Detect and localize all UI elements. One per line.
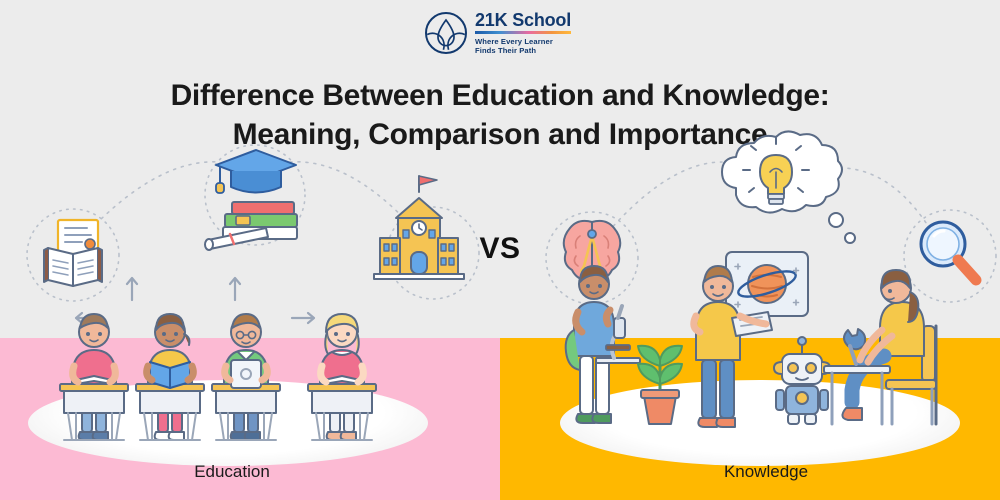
brand-logo[interactable]: 21K School Where Every Learner Finds The… [424,11,571,56]
student-reading-book [60,314,128,440]
student-at-desk [824,270,936,424]
potted-plant [638,346,682,424]
page-title-line1: Difference Between Education and Knowled… [171,79,830,112]
student-reading-book [308,314,376,440]
brand-logo-text: 21K School Where Every Learner Finds The… [475,11,571,56]
lotus-circle-icon [424,11,468,55]
knowledge-label: Knowledge [666,462,866,482]
school-building-icon [374,176,464,279]
planet-screen [726,252,808,316]
education-illustration [20,140,480,460]
student-with-open-book [136,314,204,440]
student-with-microscope [566,266,640,423]
lightbulb-thought-icon [722,131,855,243]
brand-tagline: Where Every Learner Finds Their Path [475,37,571,56]
open-book-icon [44,220,102,286]
flow-arrows [76,278,314,323]
brand-tagline-line2: Finds Their Path [475,46,536,55]
magnifier-icon [921,222,976,280]
infographic-canvas: 21K School Where Every Learner Finds The… [0,0,1000,500]
knowledge-illustration [540,140,1000,460]
brand-gradient-rule [475,31,571,34]
student-with-tablet [212,314,280,440]
brand-name: 21K School [475,11,571,29]
robot [774,337,830,424]
brand-tagline-line1: Where Every Learner [475,37,553,46]
graduation-cap-icon [205,150,297,250]
education-label: Education [132,462,332,482]
